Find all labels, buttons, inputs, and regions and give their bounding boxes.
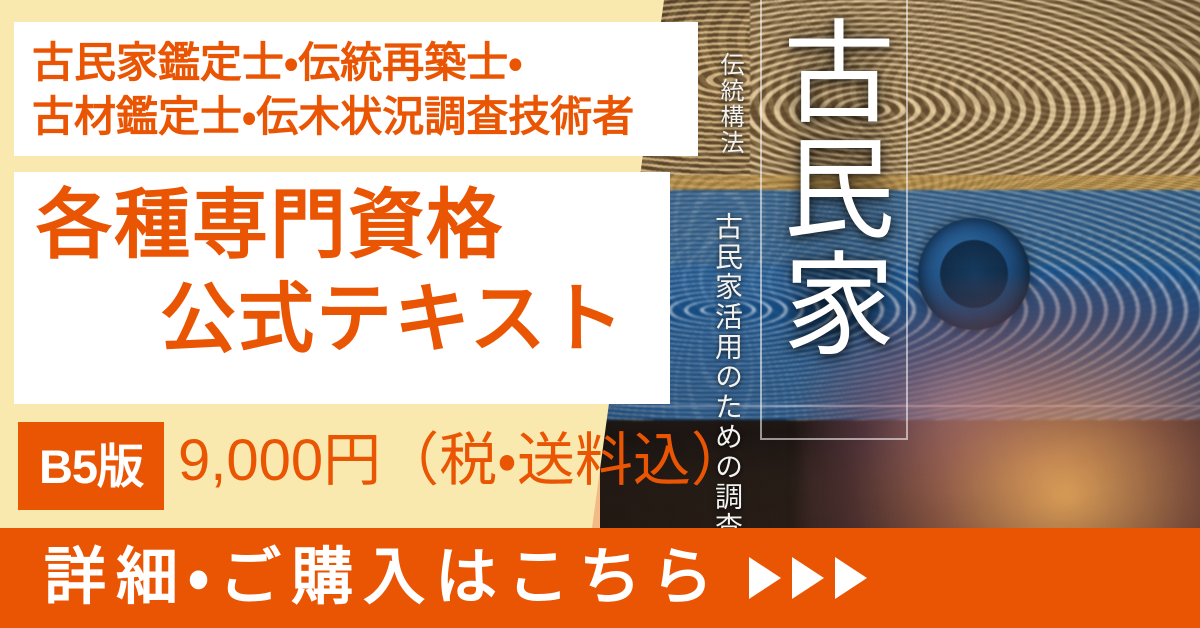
book-cover-subtitle-1: 伝統構法 [712,52,747,156]
qualifications-panel: 古民家鑑定士・伝統再築士・ 古材鑑定士・伝木状況調査技術者 [14,22,698,156]
chevron-right-icon [749,557,781,599]
heading-panel: 各種専門資格 公式テキスト [14,172,670,404]
chevron-right-icon [835,557,867,599]
qualifications-line-1: 古民家鑑定士・伝統再築士・ [32,36,634,90]
heading-line-2: 公式テキスト [160,280,626,360]
price-text: 9,000円（税・送料込） [178,432,749,490]
heading-line-1: 各種専門資格 [36,186,504,266]
format-badge-label: B5版 [39,443,143,490]
promo-banner: 伝統構法 古民家活用のための調査と再生の 古民家 古民家鑑定士・伝統再築士・ 古… [0,0,1200,628]
qualifications-line-2: 古材鑑定士・伝木状況調査技術者 [32,90,634,144]
chevron-right-icon [792,557,824,599]
book-cover-title: 古民家 [776,14,894,362]
qualifications-text: 古民家鑑定士・伝統再築士・ 古材鑑定士・伝木状況調査技術者 [32,36,634,144]
format-badge: B5版 [18,422,164,510]
cta-bar[interactable]: 詳細・ご購入はこちら [0,528,1200,628]
cta-label[interactable]: 詳細・ご購入はこちら [44,547,723,609]
cta-arrow-group [749,557,867,599]
